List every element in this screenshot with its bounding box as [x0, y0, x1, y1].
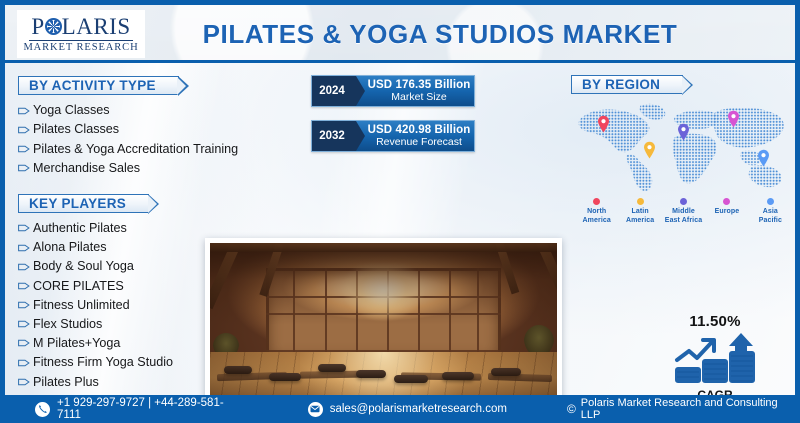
footer-copyright: © Polaris Market Research and Consulting… — [567, 397, 795, 421]
stat-text: USD 176.35 Billion Market Size — [356, 76, 474, 106]
logo-subtitle: MARKET RESEARCH — [23, 43, 138, 54]
list-item-label: Flex Studios — [33, 318, 102, 331]
legend-dot-icon — [723, 198, 730, 205]
arrow-bullet-icon — [18, 262, 30, 272]
arrow-bullet-icon — [18, 163, 30, 173]
arrow-bullet-icon — [18, 358, 30, 368]
world-map-dotted-icon — [571, 99, 793, 195]
legend-dot-icon — [767, 198, 774, 205]
list-item-label: CORE PILATES — [33, 280, 124, 293]
pin-europe[interactable] — [727, 110, 740, 128]
logo-letters-laris: LARIS — [62, 15, 131, 38]
phone-icon — [35, 402, 50, 417]
list-item[interactable]: Yoga Classes — [18, 101, 238, 120]
footer-email-text: sales@polarismarketresearch.com — [330, 403, 507, 415]
key-players-heading: KEY PLAYERS — [18, 194, 149, 213]
list-item-label: Pilates Plus — [33, 376, 99, 389]
activity-type-heading: BY ACTIVITY TYPE — [18, 76, 179, 95]
stat-value: USD 176.35 Billion — [368, 79, 471, 92]
legend-dot-icon — [637, 198, 644, 205]
studio-photo-frame — [205, 238, 562, 395]
pin-latin-america[interactable] — [643, 141, 656, 159]
header-bar: P LARIS MARKET RESEARCH PILATES & YOGA S… — [5, 5, 795, 63]
pin-north-america[interactable] — [597, 115, 610, 133]
cagr-value: 11.50% — [645, 313, 785, 330]
footer-phone[interactable]: +1 929-297-9727 | +44-289-581-7111 — [35, 397, 243, 421]
page-title: PILATES & YOGA STUDIOS MARKET — [145, 19, 795, 50]
pin-asia-pacific[interactable] — [757, 149, 770, 167]
compass-star-icon — [45, 18, 62, 35]
region-heading: BY REGION — [571, 75, 683, 94]
growth-bars-arrow-icon — [645, 331, 785, 387]
legend-item-middle-east-africa[interactable]: MiddleEast Africa — [662, 198, 705, 225]
arrow-bullet-icon — [18, 223, 30, 233]
arrow-bullet-icon — [18, 338, 30, 348]
arrow-bullet-icon — [18, 125, 30, 135]
list-item-label: Fitness Unlimited — [33, 299, 130, 312]
cagr-caption: CAGR — [645, 389, 785, 395]
infographic-root: P LARIS MARKET RESEARCH PILATES & YOGA S… — [0, 0, 800, 423]
legend-item-asia-pacific[interactable]: AsiaPacific — [749, 198, 792, 225]
list-item[interactable]: Merchandise Sales — [18, 159, 238, 178]
stat-text: USD 420.98 Billion Revenue Forecast — [356, 121, 474, 151]
legend-item-latin-america[interactable]: LatinAmerica — [618, 198, 661, 225]
company-logo[interactable]: P LARIS MARKET RESEARCH — [17, 10, 145, 58]
footer-phone-text: +1 929-297-9727 | +44-289-581-7111 — [57, 397, 243, 421]
footer-copyright-text: Polaris Market Research and Consulting L… — [581, 397, 795, 421]
logo-divider — [29, 40, 133, 41]
list-item-label: Fitness Firm Yoga Studio — [33, 356, 173, 369]
activity-type-section: BY ACTIVITY TYPE Yoga Classes Pilates Cl… — [18, 76, 238, 178]
stat-value: USD 420.98 Billion — [368, 124, 471, 137]
activity-type-list: Yoga Classes Pilates Classes Pilates & Y… — [18, 101, 238, 178]
legend-dot-icon — [593, 198, 600, 205]
cagr-section: 11.50% — [645, 313, 785, 395]
stat-year: 2024 — [312, 76, 356, 106]
list-item-label: Pilates Classes — [33, 123, 119, 136]
list-item[interactable]: Authentic Pilates — [18, 219, 238, 238]
list-item-label: Merchandise Sales — [33, 162, 140, 175]
list-item-label: Authentic Pilates — [33, 222, 127, 235]
arrow-bullet-icon — [18, 319, 30, 329]
list-item-label: Yoga Classes — [33, 104, 110, 117]
stat-box-2024: 2024 USD 176.35 Billion Market Size — [311, 75, 475, 107]
list-item-label: M Pilates+Yoga — [33, 337, 120, 350]
stat-box-2032: 2032 USD 420.98 Billion Revenue Forecast — [311, 120, 475, 152]
legend-item-north-america[interactable]: NorthAmerica — [575, 198, 618, 225]
logo-letter-p: P — [31, 15, 44, 38]
legend-label: LatinAmerica — [626, 208, 654, 225]
world-map — [571, 99, 793, 195]
envelope-icon — [308, 402, 323, 417]
arrow-bullet-icon — [18, 243, 30, 253]
list-item-label: Alona Pilates — [33, 241, 107, 254]
arrow-bullet-icon — [18, 144, 30, 154]
legend-label: NorthAmerica — [583, 208, 611, 225]
arrow-bullet-icon — [18, 377, 30, 387]
region-legend: NorthAmerica LatinAmerica MiddleEast Afr… — [571, 198, 795, 225]
photo-vignette — [210, 243, 557, 395]
copyright-icon: © — [567, 402, 576, 416]
body-panel: BY ACTIVITY TYPE Yoga Classes Pilates Cl… — [5, 63, 795, 395]
list-item-label: Body & Soul Yoga — [33, 260, 134, 273]
legend-dot-icon — [680, 198, 687, 205]
list-item[interactable]: Pilates Classes — [18, 120, 238, 139]
stat-year: 2032 — [312, 121, 356, 151]
arrow-bullet-icon — [18, 281, 30, 291]
pin-middle-east-africa[interactable] — [677, 123, 690, 141]
studio-photo — [210, 243, 557, 395]
legend-item-europe[interactable]: Europe — [705, 198, 748, 217]
legend-label: MiddleEast Africa — [665, 208, 702, 225]
arrow-bullet-icon — [18, 300, 30, 310]
list-item-label: Pilates & Yoga Accreditation Training — [33, 143, 238, 156]
logo-wordmark: P LARIS — [31, 15, 130, 38]
legend-label: Europe — [715, 208, 740, 217]
footer-email[interactable]: sales@polarismarketresearch.com — [308, 402, 507, 417]
legend-label: AsiaPacific — [759, 208, 782, 225]
arrow-bullet-icon — [18, 106, 30, 116]
market-stats: 2024 USD 176.35 Billion Market Size 2032… — [311, 75, 475, 165]
footer-bar: +1 929-297-9727 | +44-289-581-7111 sales… — [5, 395, 795, 423]
list-item[interactable]: Pilates & Yoga Accreditation Training — [18, 139, 238, 158]
stat-label: Revenue Forecast — [376, 137, 462, 149]
stat-label: Market Size — [391, 92, 446, 104]
region-section: BY REGION — [571, 75, 795, 225]
